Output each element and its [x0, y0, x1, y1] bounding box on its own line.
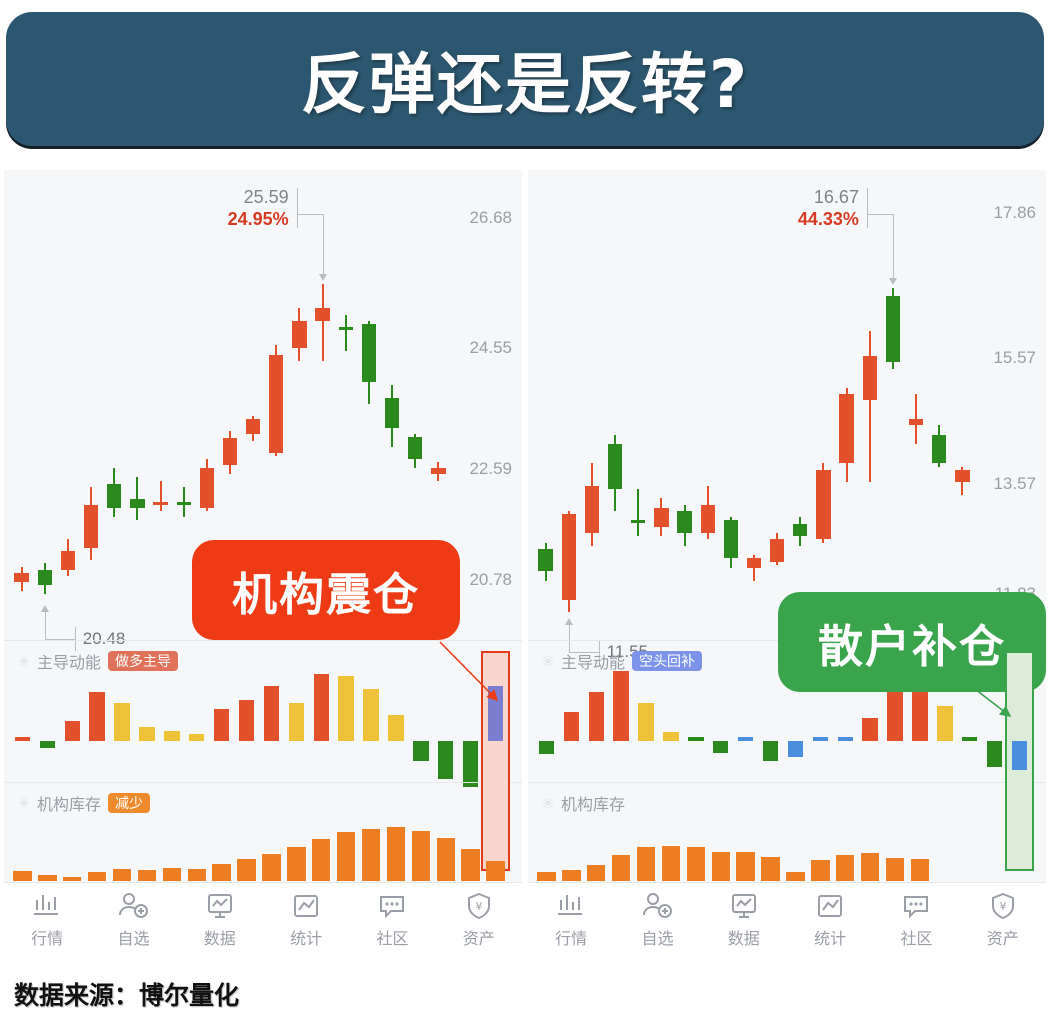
momentum-bar — [65, 721, 80, 741]
momentum-bar — [912, 689, 927, 741]
nav-item-行情[interactable]: 行情 — [6, 891, 88, 949]
inventory-bar — [911, 859, 929, 881]
price-axis-label: 15.57 — [993, 348, 1036, 368]
peak-leader-arrow — [319, 274, 327, 281]
price-axis-label: 20.78 — [469, 570, 512, 590]
price-axis-label: 17.86 — [993, 203, 1036, 223]
bottom-nav-right[interactable]: 行情 自选 数据 统计 社区 ¥资产 — [528, 882, 1046, 958]
peak-price: 25.59 — [228, 186, 289, 208]
momentum-bar — [388, 715, 403, 741]
candlestick — [200, 459, 214, 511]
candlestick — [315, 284, 329, 360]
candlestick — [654, 498, 668, 536]
inventory-bar — [562, 870, 580, 881]
candlestick — [14, 567, 28, 592]
nav-item-统计[interactable]: 统计 — [265, 891, 347, 949]
inventory-title: 机构库存 — [37, 791, 101, 815]
inventory-bar — [63, 877, 81, 881]
momentum-bar-last — [488, 686, 503, 741]
candlestick — [223, 431, 237, 474]
peak-leader-stem — [867, 188, 868, 228]
candlestick — [107, 468, 121, 517]
nav-label: 行情 — [31, 925, 63, 949]
momentum-title: 主导动能 — [37, 649, 101, 673]
inventory-bar-last — [486, 861, 504, 881]
inventory-badge: 减少 — [108, 793, 150, 813]
inventory-title: 机构库存 — [561, 791, 625, 815]
momentum-bar — [114, 703, 129, 741]
candlestick — [724, 517, 738, 568]
inventory-bar — [188, 869, 206, 881]
monitor-chart-icon — [727, 891, 761, 921]
gear-icon — [18, 797, 30, 809]
inventory-bar — [736, 852, 754, 881]
momentum-bar — [539, 741, 554, 754]
candlestick — [932, 425, 946, 466]
momentum-bar — [688, 737, 703, 741]
inventory-bar — [312, 839, 330, 881]
nav-item-行情[interactable]: 行情 — [530, 891, 612, 949]
inventory-bar — [786, 872, 804, 881]
candlestick — [863, 331, 877, 483]
line-chart-icon — [289, 891, 323, 921]
peak-annotation: 25.5924.95% — [228, 186, 289, 230]
momentum-badge: 做多主导 — [108, 651, 178, 671]
inventory-bar — [587, 865, 605, 881]
momentum-header: 主导动能做多主导 — [18, 649, 178, 673]
inventory-bar — [637, 847, 655, 881]
data-source-footer: 数据来源：博尔量化 — [14, 976, 239, 1012]
inventory-bar — [237, 859, 255, 881]
inventory-bar — [861, 853, 879, 881]
gear-icon — [542, 655, 554, 667]
inventory-bar — [836, 855, 854, 881]
nav-label: 资产 — [987, 925, 1019, 949]
momentum-header: 主导动能空头回补 — [542, 649, 702, 673]
momentum-bar — [139, 727, 154, 742]
inventory-header: 机构库存减少 — [18, 791, 150, 815]
inventory-bar — [761, 857, 779, 881]
candlestick — [538, 543, 552, 581]
momentum-bar — [164, 731, 179, 741]
callout-left-label: 机构震仓 — [232, 558, 420, 623]
inventory-bar — [38, 875, 56, 881]
momentum-bar — [838, 737, 853, 741]
nav-label: 社区 — [900, 925, 932, 949]
inventory-bar — [886, 858, 904, 881]
inventory-bar — [287, 847, 305, 881]
inventory-bar — [212, 864, 230, 881]
momentum-bar — [937, 706, 952, 741]
momentum-bar — [314, 674, 329, 741]
inventory-panel-left[interactable]: 机构库存减少 — [4, 782, 522, 883]
momentum-bar — [40, 741, 55, 748]
low-arrow-stem — [45, 611, 46, 639]
inventory-bar — [712, 852, 730, 881]
momentum-bar-last — [1012, 741, 1027, 770]
momentum-bar — [887, 689, 902, 741]
momentum-bar — [663, 732, 678, 741]
nav-item-资产[interactable]: ¥资产 — [438, 891, 520, 949]
candlestick — [269, 345, 283, 456]
peak-leader-drop — [323, 214, 324, 274]
momentum-bar — [813, 737, 828, 741]
candlestick — [747, 555, 761, 580]
bar-chart-icon — [30, 891, 64, 921]
line-chart-icon — [813, 891, 847, 921]
candlestick — [246, 416, 260, 441]
momentum-bar — [289, 703, 304, 741]
inventory-bar — [262, 854, 280, 881]
inventory-bar — [662, 846, 680, 881]
inventory-bar — [811, 860, 829, 881]
price-axis-label: 22.59 — [469, 459, 512, 479]
nav-label: 社区 — [376, 925, 408, 949]
momentum-bar — [264, 686, 279, 741]
inventory-panel-right[interactable]: 机构库存 — [528, 782, 1046, 883]
inventory-bar — [337, 832, 355, 881]
candlestick — [839, 388, 853, 483]
price-axis-label: 13.57 — [993, 474, 1036, 494]
price-axis-label: 26.68 — [469, 208, 512, 228]
candlestick — [362, 321, 376, 404]
nav-label: 行情 — [555, 925, 587, 949]
momentum-bar — [638, 703, 653, 741]
candlestick — [84, 487, 98, 561]
nav-label: 数据 — [204, 925, 236, 949]
candlestick — [292, 308, 306, 360]
inventory-bar — [362, 829, 380, 881]
nav-label: 统计 — [814, 925, 846, 949]
candlestick — [38, 563, 52, 594]
candlestick — [955, 467, 969, 495]
peak-leader-elbow — [297, 214, 323, 215]
person-add-icon — [116, 891, 150, 921]
nav-item-统计[interactable]: 统计 — [789, 891, 871, 949]
momentum-bar — [413, 741, 428, 761]
peak-leader-elbow — [867, 214, 893, 215]
candlestick — [408, 434, 422, 468]
peak-leader-drop — [893, 214, 894, 278]
nav-item-资产[interactable]: ¥资产 — [962, 891, 1044, 949]
nav-label: 自选 — [641, 925, 673, 949]
momentum-bar — [564, 712, 579, 741]
inventory-bar — [687, 847, 705, 881]
callout-institutional-shakeout: 机构震仓 — [192, 540, 460, 640]
candlestick — [701, 486, 715, 540]
candlestick — [431, 462, 445, 480]
momentum-bar — [214, 709, 229, 741]
peak-leader-arrow — [889, 278, 897, 285]
inventory-header: 机构库存 — [542, 791, 625, 815]
peak-price: 16.67 — [798, 186, 859, 208]
callout-right-label: 散户补仓 — [818, 610, 1006, 675]
low-arrow-head — [41, 605, 49, 612]
nav-item-社区[interactable]: 社区 — [875, 891, 957, 949]
gear-icon — [18, 655, 30, 667]
candlestick — [177, 487, 191, 518]
inventory-bar — [412, 831, 430, 881]
inventory-bar — [88, 872, 106, 881]
momentum-bar — [438, 741, 453, 779]
momentum-bar — [239, 700, 254, 741]
momentum-bar — [589, 692, 604, 741]
nav-item-自选[interactable]: 自选 — [616, 891, 698, 949]
candlestick — [339, 315, 353, 352]
peak-leader-stem — [297, 188, 298, 228]
momentum-bar — [363, 689, 378, 741]
shield-yuan-icon: ¥ — [986, 891, 1020, 921]
inventory-bar — [461, 849, 479, 881]
candlestick — [909, 394, 923, 445]
momentum-panel-left[interactable]: 主导动能做多主导 — [4, 640, 522, 783]
speech-bubble-icon — [899, 891, 933, 921]
inventory-bar — [138, 870, 156, 881]
inventory-bar — [387, 827, 405, 881]
monitor-chart-icon — [203, 891, 237, 921]
bar-chart-icon — [554, 891, 588, 921]
momentum-badge: 空头回补 — [632, 651, 702, 671]
inventory-bar — [537, 872, 555, 881]
peak-percent: 24.95% — [228, 208, 289, 230]
candlestick — [886, 288, 900, 368]
candlestick — [816, 463, 830, 542]
momentum-bar — [713, 741, 728, 753]
candlestick — [608, 435, 622, 511]
momentum-bar — [89, 692, 104, 741]
inventory-bar — [113, 869, 131, 881]
candlestick — [631, 489, 645, 536]
candlestick — [677, 505, 691, 546]
momentum-bar — [613, 671, 628, 741]
inventory-bar — [163, 868, 181, 881]
nav-label: 资产 — [463, 925, 495, 949]
bottom-nav-left[interactable]: 行情 自选 数据 统计 社区 ¥资产 — [4, 882, 522, 958]
momentum-bar — [862, 718, 877, 741]
candlestick — [153, 481, 167, 512]
momentum-title: 主导动能 — [561, 649, 625, 673]
gear-icon — [542, 797, 554, 809]
candlestick — [130, 477, 144, 520]
momentum-bar — [987, 741, 1002, 767]
nav-item-社区[interactable]: 社区 — [351, 891, 433, 949]
nav-item-自选[interactable]: 自选 — [92, 891, 174, 949]
momentum-bar — [338, 676, 353, 741]
price-chart-right[interactable]: 17.8615.5713.5711.8316.6744.33%11.55 — [528, 170, 1046, 640]
shield-yuan-icon: ¥ — [462, 891, 496, 921]
stock-panel-right: 17.8615.5713.5711.8316.6744.33%11.55 主导动… — [528, 170, 1046, 958]
momentum-bar — [189, 734, 204, 741]
momentum-highlight-box — [481, 651, 510, 871]
inventory-bar — [612, 855, 630, 881]
momentum-bar — [763, 741, 778, 761]
momentum-bar — [788, 741, 803, 757]
candlestick — [562, 511, 576, 612]
momentum-bar — [962, 737, 977, 741]
price-axis-label: 24.55 — [469, 338, 512, 358]
nav-item-数据[interactable]: 数据 — [703, 891, 785, 949]
momentum-bar — [463, 741, 478, 787]
nav-label: 统计 — [290, 925, 322, 949]
person-add-icon — [640, 891, 674, 921]
inventory-bar — [437, 838, 455, 881]
candlestick — [585, 463, 599, 545]
nav-label: 数据 — [728, 925, 760, 949]
peak-percent: 44.33% — [798, 208, 859, 230]
momentum-bar — [15, 737, 30, 741]
page-title: 反弹还是反转? — [301, 31, 749, 127]
peak-annotation: 16.6744.33% — [798, 186, 859, 230]
speech-bubble-icon — [375, 891, 409, 921]
candlestick — [61, 539, 75, 576]
candlestick — [770, 533, 784, 565]
nav-item-数据[interactable]: 数据 — [179, 891, 261, 949]
svg-text:¥: ¥ — [999, 900, 1006, 913]
header-banner: 反弹还是反转? — [6, 12, 1044, 146]
momentum-bar — [738, 737, 753, 741]
candlestick — [385, 385, 399, 446]
candlestick — [793, 517, 807, 545]
low-arrow-head — [565, 618, 573, 625]
nav-label: 自选 — [117, 925, 149, 949]
inventory-bar — [13, 871, 31, 881]
svg-text:¥: ¥ — [475, 900, 482, 913]
